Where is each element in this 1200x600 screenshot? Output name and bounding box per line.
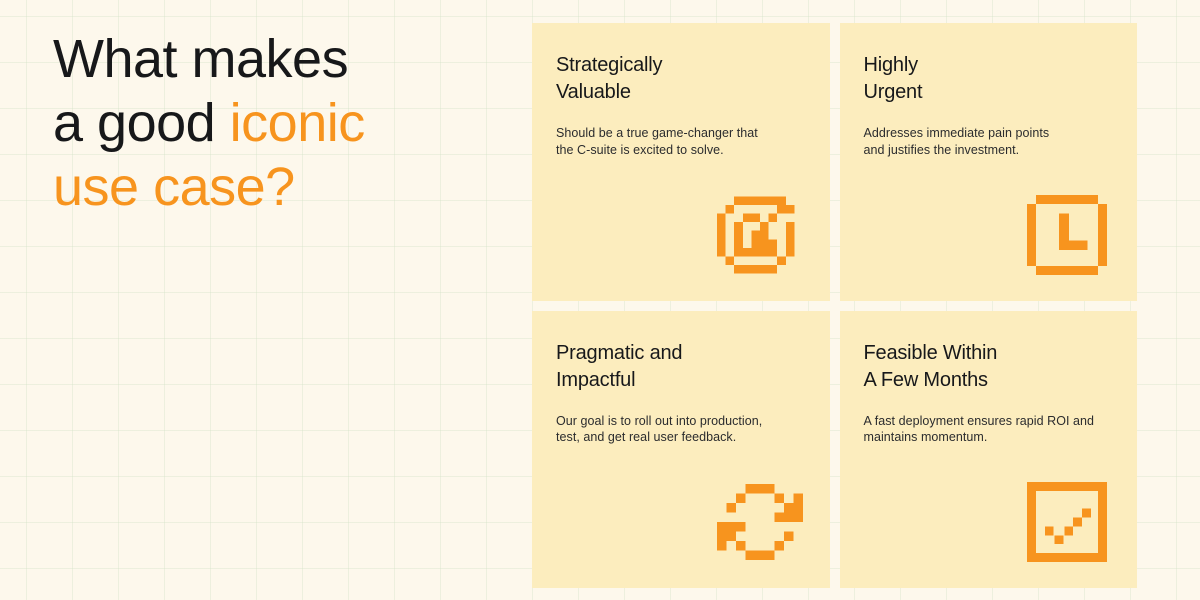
headline-line-3: use case? [53, 155, 523, 219]
headline-line-2-plain: a good [53, 93, 230, 153]
headline-line-1: What makes [53, 27, 523, 91]
card-pragmatic-and-impactful[interactable]: Pragmatic and Impactful Our goal is to r… [532, 311, 830, 589]
card-description: Addresses immediate pain points and just… [864, 125, 1114, 158]
page-title: What makes a good iconic use case? [53, 27, 523, 219]
growth-chart-frame-icon [1024, 482, 1110, 562]
headline-line-2: a good iconic [53, 91, 523, 155]
card-title: Feasible Within A Few Months [864, 340, 1114, 394]
slide-canvas: What makes a good iconic use case? Strat… [0, 0, 1200, 600]
refresh-cycle-icon [717, 482, 803, 562]
target-focus-icon [717, 195, 803, 275]
card-feasible-within-a-few-months[interactable]: Feasible Within A Few Months A fast depl… [840, 311, 1138, 589]
card-strategically-valuable[interactable]: Strategically Valuable Should be a true … [532, 23, 830, 301]
card-title: Pragmatic and Impactful [556, 340, 806, 394]
criteria-card-grid: Strategically Valuable Should be a true … [532, 23, 1137, 588]
card-highly-urgent[interactable]: Highly Urgent Addresses immediate pain p… [840, 23, 1138, 301]
letter-l-frame-icon [1024, 195, 1110, 275]
card-title: Highly Urgent [864, 52, 1114, 106]
card-description: A fast deployment ensures rapid ROI and … [864, 413, 1114, 446]
headline-line-2-accent: iconic [230, 93, 365, 153]
card-title: Strategically Valuable [556, 52, 806, 106]
card-description: Should be a true game-changer that the C… [556, 125, 806, 158]
card-description: Our goal is to roll out into production,… [556, 413, 806, 446]
